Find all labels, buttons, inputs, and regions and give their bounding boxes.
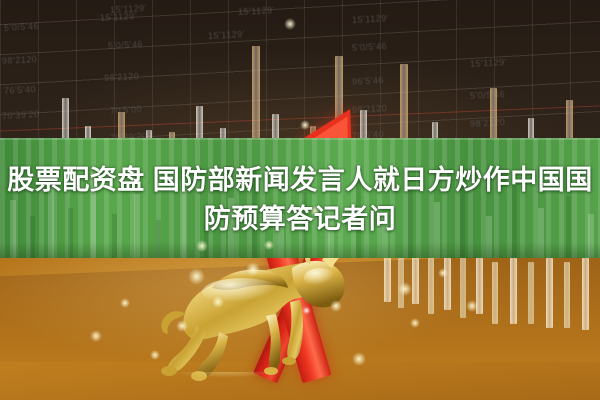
sparkle bbox=[212, 296, 224, 308]
sparkle bbox=[284, 18, 296, 30]
green-band-bottom-shade bbox=[0, 242, 600, 258]
ticker-number: 5'0/5'46 bbox=[108, 39, 143, 51]
article-header-image: 15'1129'15'1129'5'0/5'4615'1129'5'0/5'46… bbox=[0, 0, 600, 400]
chart-bar bbox=[196, 106, 203, 140]
chart-bar bbox=[566, 100, 573, 140]
ticker-number: 5'0/5'46 bbox=[470, 89, 505, 101]
sparkle bbox=[188, 268, 205, 285]
sparkle bbox=[410, 318, 420, 328]
bull-front-leg bbox=[287, 300, 303, 361]
bull-reflection bbox=[150, 372, 300, 388]
chart-bar bbox=[528, 118, 534, 140]
bull-front-leg bbox=[266, 314, 281, 371]
ticker-number: 96'5'46 bbox=[352, 75, 384, 87]
golden-bull-statue bbox=[150, 238, 365, 388]
ticker-number: 5'0/5'46 bbox=[4, 21, 39, 33]
sparkle bbox=[196, 240, 208, 252]
green-band-top-edge bbox=[0, 138, 600, 140]
chart-bar bbox=[490, 88, 497, 140]
ticker-number: 15'1129' bbox=[238, 5, 275, 17]
headline-line-2: 防预算答记者问 bbox=[0, 199, 600, 239]
ticker-number: 15'1129' bbox=[470, 57, 507, 69]
ticker-number: 76'5'40 bbox=[4, 84, 36, 96]
chart-bar bbox=[62, 98, 69, 140]
ticker-number: 15'1129' bbox=[352, 13, 389, 25]
sparkle bbox=[176, 320, 188, 332]
ticker-number: 98'2120 bbox=[470, 117, 506, 129]
ticker-number: 70'39'20 bbox=[2, 109, 40, 121]
ticker-number: 70'5'00 bbox=[110, 104, 142, 116]
sparkle bbox=[300, 120, 310, 130]
sparkle bbox=[330, 300, 342, 312]
ticker-number: 15'1129' bbox=[100, 11, 137, 23]
sparkle bbox=[120, 298, 130, 308]
sparkle bbox=[264, 240, 274, 250]
ticker-number: 98'2120 bbox=[104, 71, 140, 83]
bull-hoof bbox=[282, 357, 296, 365]
ticker-number: 15'1129' bbox=[208, 29, 245, 41]
sparkle bbox=[438, 268, 448, 278]
sparkle bbox=[466, 300, 478, 312]
ticker-number: 98'2120 bbox=[2, 54, 38, 66]
sparkle bbox=[90, 330, 102, 342]
bull-highlight bbox=[304, 268, 336, 288]
sparkle bbox=[150, 350, 160, 360]
headline-line-1: 股票配资盘 国防部新闻发言人就日方炒作中国国 bbox=[0, 160, 600, 200]
ticker-number: 5'0/5'46 bbox=[352, 41, 387, 53]
chart-bar bbox=[118, 112, 125, 140]
